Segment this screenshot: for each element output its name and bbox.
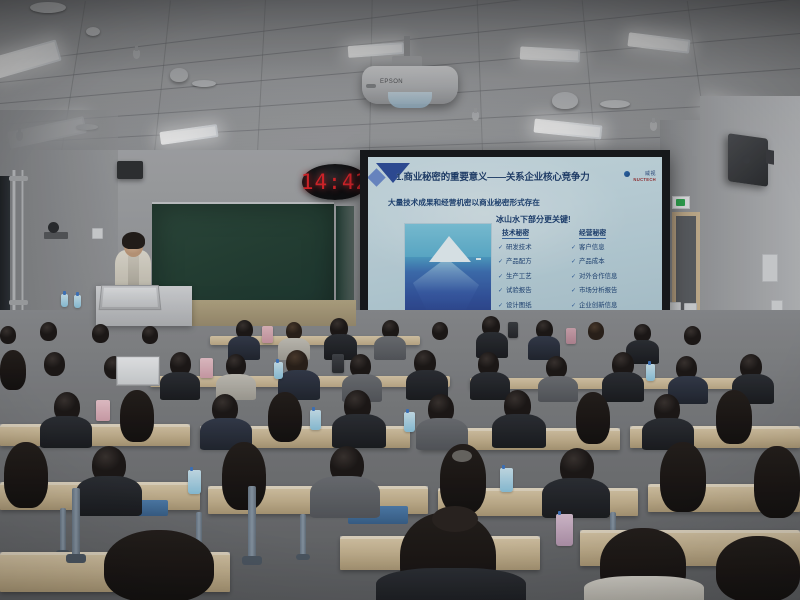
student-body [332,414,386,448]
hair-bun [432,506,478,532]
camera-bracket [44,232,68,239]
water-bottle[interactable] [646,364,655,381]
student-long-hair [576,392,610,444]
desk-leg [60,508,66,554]
desk-foot [66,554,86,563]
desk-leg [300,514,306,558]
list-item: 生产工艺 [498,270,532,284]
student-head [40,322,57,341]
student-body [602,372,644,402]
logo-english-text: NUCTECH [633,177,656,182]
student-head [142,326,158,344]
student-long-hair [716,536,800,600]
student-long-hair [754,446,800,518]
water-bottle[interactable] [274,362,283,379]
desk-leg [72,488,80,558]
left-window-edge [0,176,10,316]
water-bottle[interactable] [556,514,573,546]
student-head [0,326,16,344]
list-item: 对外合作信息 [571,270,617,284]
smartphone[interactable] [200,358,213,378]
logo-chinese-text: 威视 [633,170,656,177]
digital-clock: 14:42 [302,164,368,200]
student-long-hair [222,442,266,510]
list-item: 产品配方 [498,255,532,269]
student-body [310,476,380,518]
student-head [588,322,604,340]
wall-pipe [21,170,24,320]
presenter-blouse [128,256,139,286]
student-long-hair [268,392,302,442]
smartphone[interactable] [566,328,576,344]
wall-camera-icon [48,222,59,233]
water-bottle[interactable] [188,470,201,494]
student-body [542,478,610,518]
smartphone[interactable] [262,326,273,343]
boat-speck [476,258,481,260]
presenter-hair [122,232,145,249]
water-bottle[interactable] [500,468,513,492]
wall-speaker [728,133,768,187]
hair-tie [452,450,472,462]
smartphone[interactable] [508,322,518,338]
student-body [374,336,406,360]
slide-headline: 冰山水下部分更关键! [496,214,571,225]
student-head [92,324,109,343]
student-head [432,322,448,340]
student-body [40,416,92,448]
speaker-bracket [766,149,774,164]
desk-foot [242,556,262,565]
student-long-hair [4,442,48,508]
desk-leg [248,486,256,560]
list-item: 试验报告 [498,284,532,298]
student-body [538,376,578,402]
student-body [76,476,142,516]
water-bottle[interactable] [404,412,415,432]
slide-subtitle: 大量技术成果和经营机密以商业秘密形式存在 [388,197,540,208]
desk-foot [296,554,310,560]
list-item: 客户信息 [571,241,617,255]
nuctech-logo: 威视 NUCTECH [633,170,656,182]
presentation-slide: 1.商业秘密的重要意义——关系企业核心竞争力 威视 NUCTECH 大量技术成果… [368,157,662,321]
pipe-clamp [9,176,28,181]
slide-title: 1.商业秘密的重要意义——关系企业核心竞争力 [396,169,590,183]
student-body [376,568,526,600]
slide-column-header-1: 经营秘密 [579,227,606,239]
clock-time: 14:42 [301,172,369,193]
student-long-hair [104,530,214,600]
student-long-hair [716,390,752,444]
student-long-hair [120,390,154,442]
water-bottle[interactable] [310,410,321,430]
list-item: 市场分析报告 [571,284,617,298]
student-body [470,372,510,400]
student-head [44,352,65,376]
iceberg-peak [429,236,471,262]
list-item: 研发技术 [498,241,532,255]
exit-sign-icon [672,196,690,209]
student-body [160,372,200,400]
ceiling-speaker-black [117,161,143,179]
audience-area [0,300,800,600]
student-long-hair [0,350,26,390]
student-head [684,326,701,345]
smartphone[interactable] [332,354,344,373]
student-laptop[interactable] [116,356,160,386]
list-item: 产品成本 [571,255,617,269]
slide-column-header-0: 技术秘密 [502,227,529,239]
lecture-hall-photo: EPSON 14:42 1.商业秘密的重要意义——关系企业核心竞争力 [0,0,800,600]
student-body [492,414,546,448]
student-body [584,576,704,600]
wall-outlet-plate[interactable] [92,228,103,239]
student-long-hair [660,442,706,512]
smartphone[interactable] [96,400,110,421]
wall-control-panel[interactable] [762,254,778,282]
